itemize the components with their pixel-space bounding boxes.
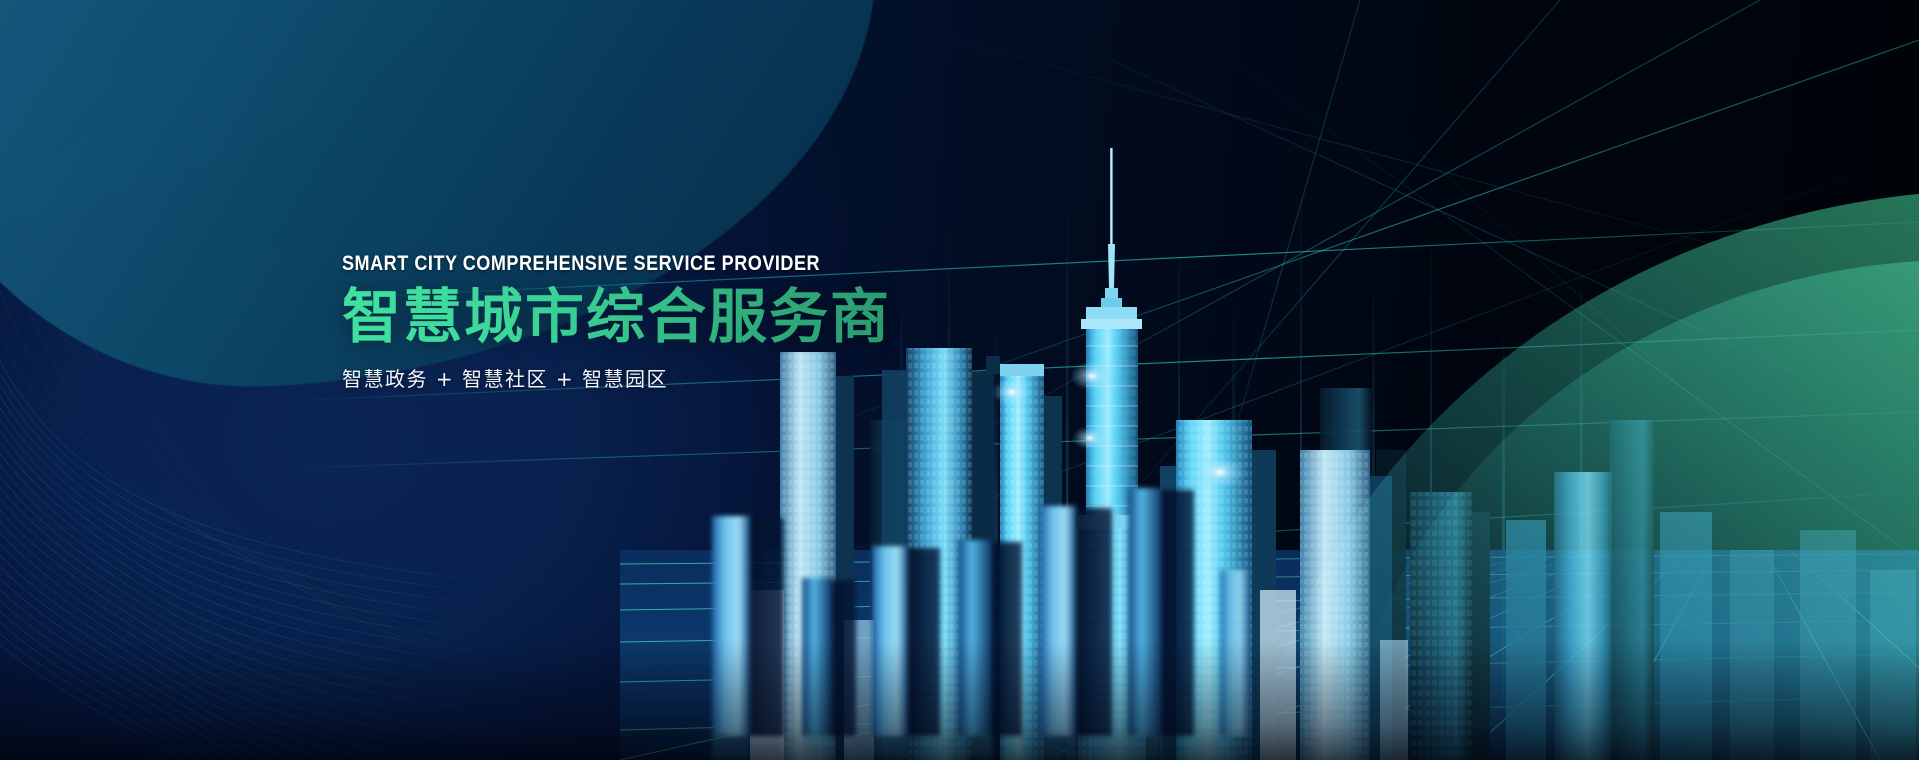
- hero-eyebrow-english: SMART CITY COMPREHENSIVE SERVICE PROVIDE…: [342, 252, 820, 276]
- foreground-bar-buildings: [690, 430, 1310, 760]
- hero-banner: SMART CITY COMPREHENSIVE SERVICE PROVIDE…: [0, 0, 1919, 760]
- hero-subline-chinese: 智慧政务 + 智慧社区 + 智慧园区: [342, 363, 898, 392]
- hero-text-block: SMART CITY COMPREHENSIVE SERVICE PROVIDE…: [342, 252, 898, 392]
- hero-headline-chinese: 智慧城市综合服务商: [342, 286, 898, 349]
